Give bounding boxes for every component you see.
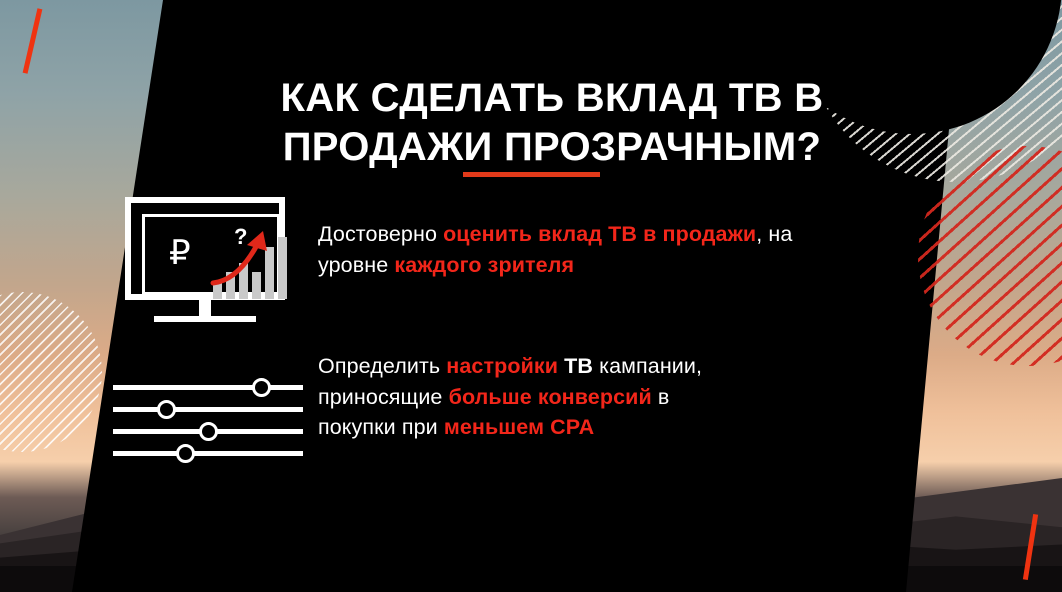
tv-outer-frame: ₽ ? bbox=[125, 197, 285, 300]
text-segment: Достоверно bbox=[318, 222, 443, 246]
growth-arrow-icon bbox=[205, 225, 295, 301]
body-text-settings: Определить настройки ТВ кампании, принос… bbox=[318, 351, 718, 443]
page-title-line-1: КАК СДЕЛАТЬ ВКЛАД ТВ В bbox=[222, 74, 882, 123]
tv-stand-base bbox=[154, 316, 256, 322]
page-title: КАК СДЕЛАТЬ ВКЛАД ТВ В ПРОДАЖИ ПРОЗРАЧНЫ… bbox=[222, 74, 882, 172]
tv-screen: ₽ ? bbox=[142, 214, 280, 295]
ruble-icon: ₽ bbox=[169, 236, 191, 270]
slider-knob[interactable] bbox=[176, 444, 195, 463]
page-title-line-2: ПРОДАЖИ ПРОЗРАЧНЫМ? bbox=[222, 123, 882, 172]
slider-track[interactable] bbox=[113, 451, 303, 456]
slider-knob[interactable] bbox=[199, 422, 218, 441]
slider-knob[interactable] bbox=[252, 378, 271, 397]
text-segment: больше конверсий bbox=[449, 385, 652, 409]
title-underline-accent bbox=[463, 172, 600, 177]
tv-chart-icon: ₽ ? bbox=[125, 197, 305, 332]
body-text-evaluate: Достоверно оценить вклад ТВ в продажи, н… bbox=[318, 219, 858, 280]
text-segment: настройки bbox=[446, 354, 564, 378]
slider-track[interactable] bbox=[113, 385, 303, 390]
tv-stand-neck bbox=[199, 300, 211, 317]
text-segment: оценить вклад ТВ в продажи bbox=[443, 222, 756, 246]
sliders-icon bbox=[113, 385, 303, 465]
text-segment: ТВ bbox=[564, 354, 593, 378]
slider-knob[interactable] bbox=[157, 400, 176, 419]
text-segment: меньшем CPA bbox=[444, 415, 594, 439]
slide-root: КАК СДЕЛАТЬ ВКЛАД ТВ В ПРОДАЖИ ПРОЗРАЧНЫ… bbox=[0, 0, 1062, 592]
text-segment: каждого зрителя bbox=[394, 253, 574, 277]
text-segment: Определить bbox=[318, 354, 446, 378]
slider-track[interactable] bbox=[113, 407, 303, 412]
